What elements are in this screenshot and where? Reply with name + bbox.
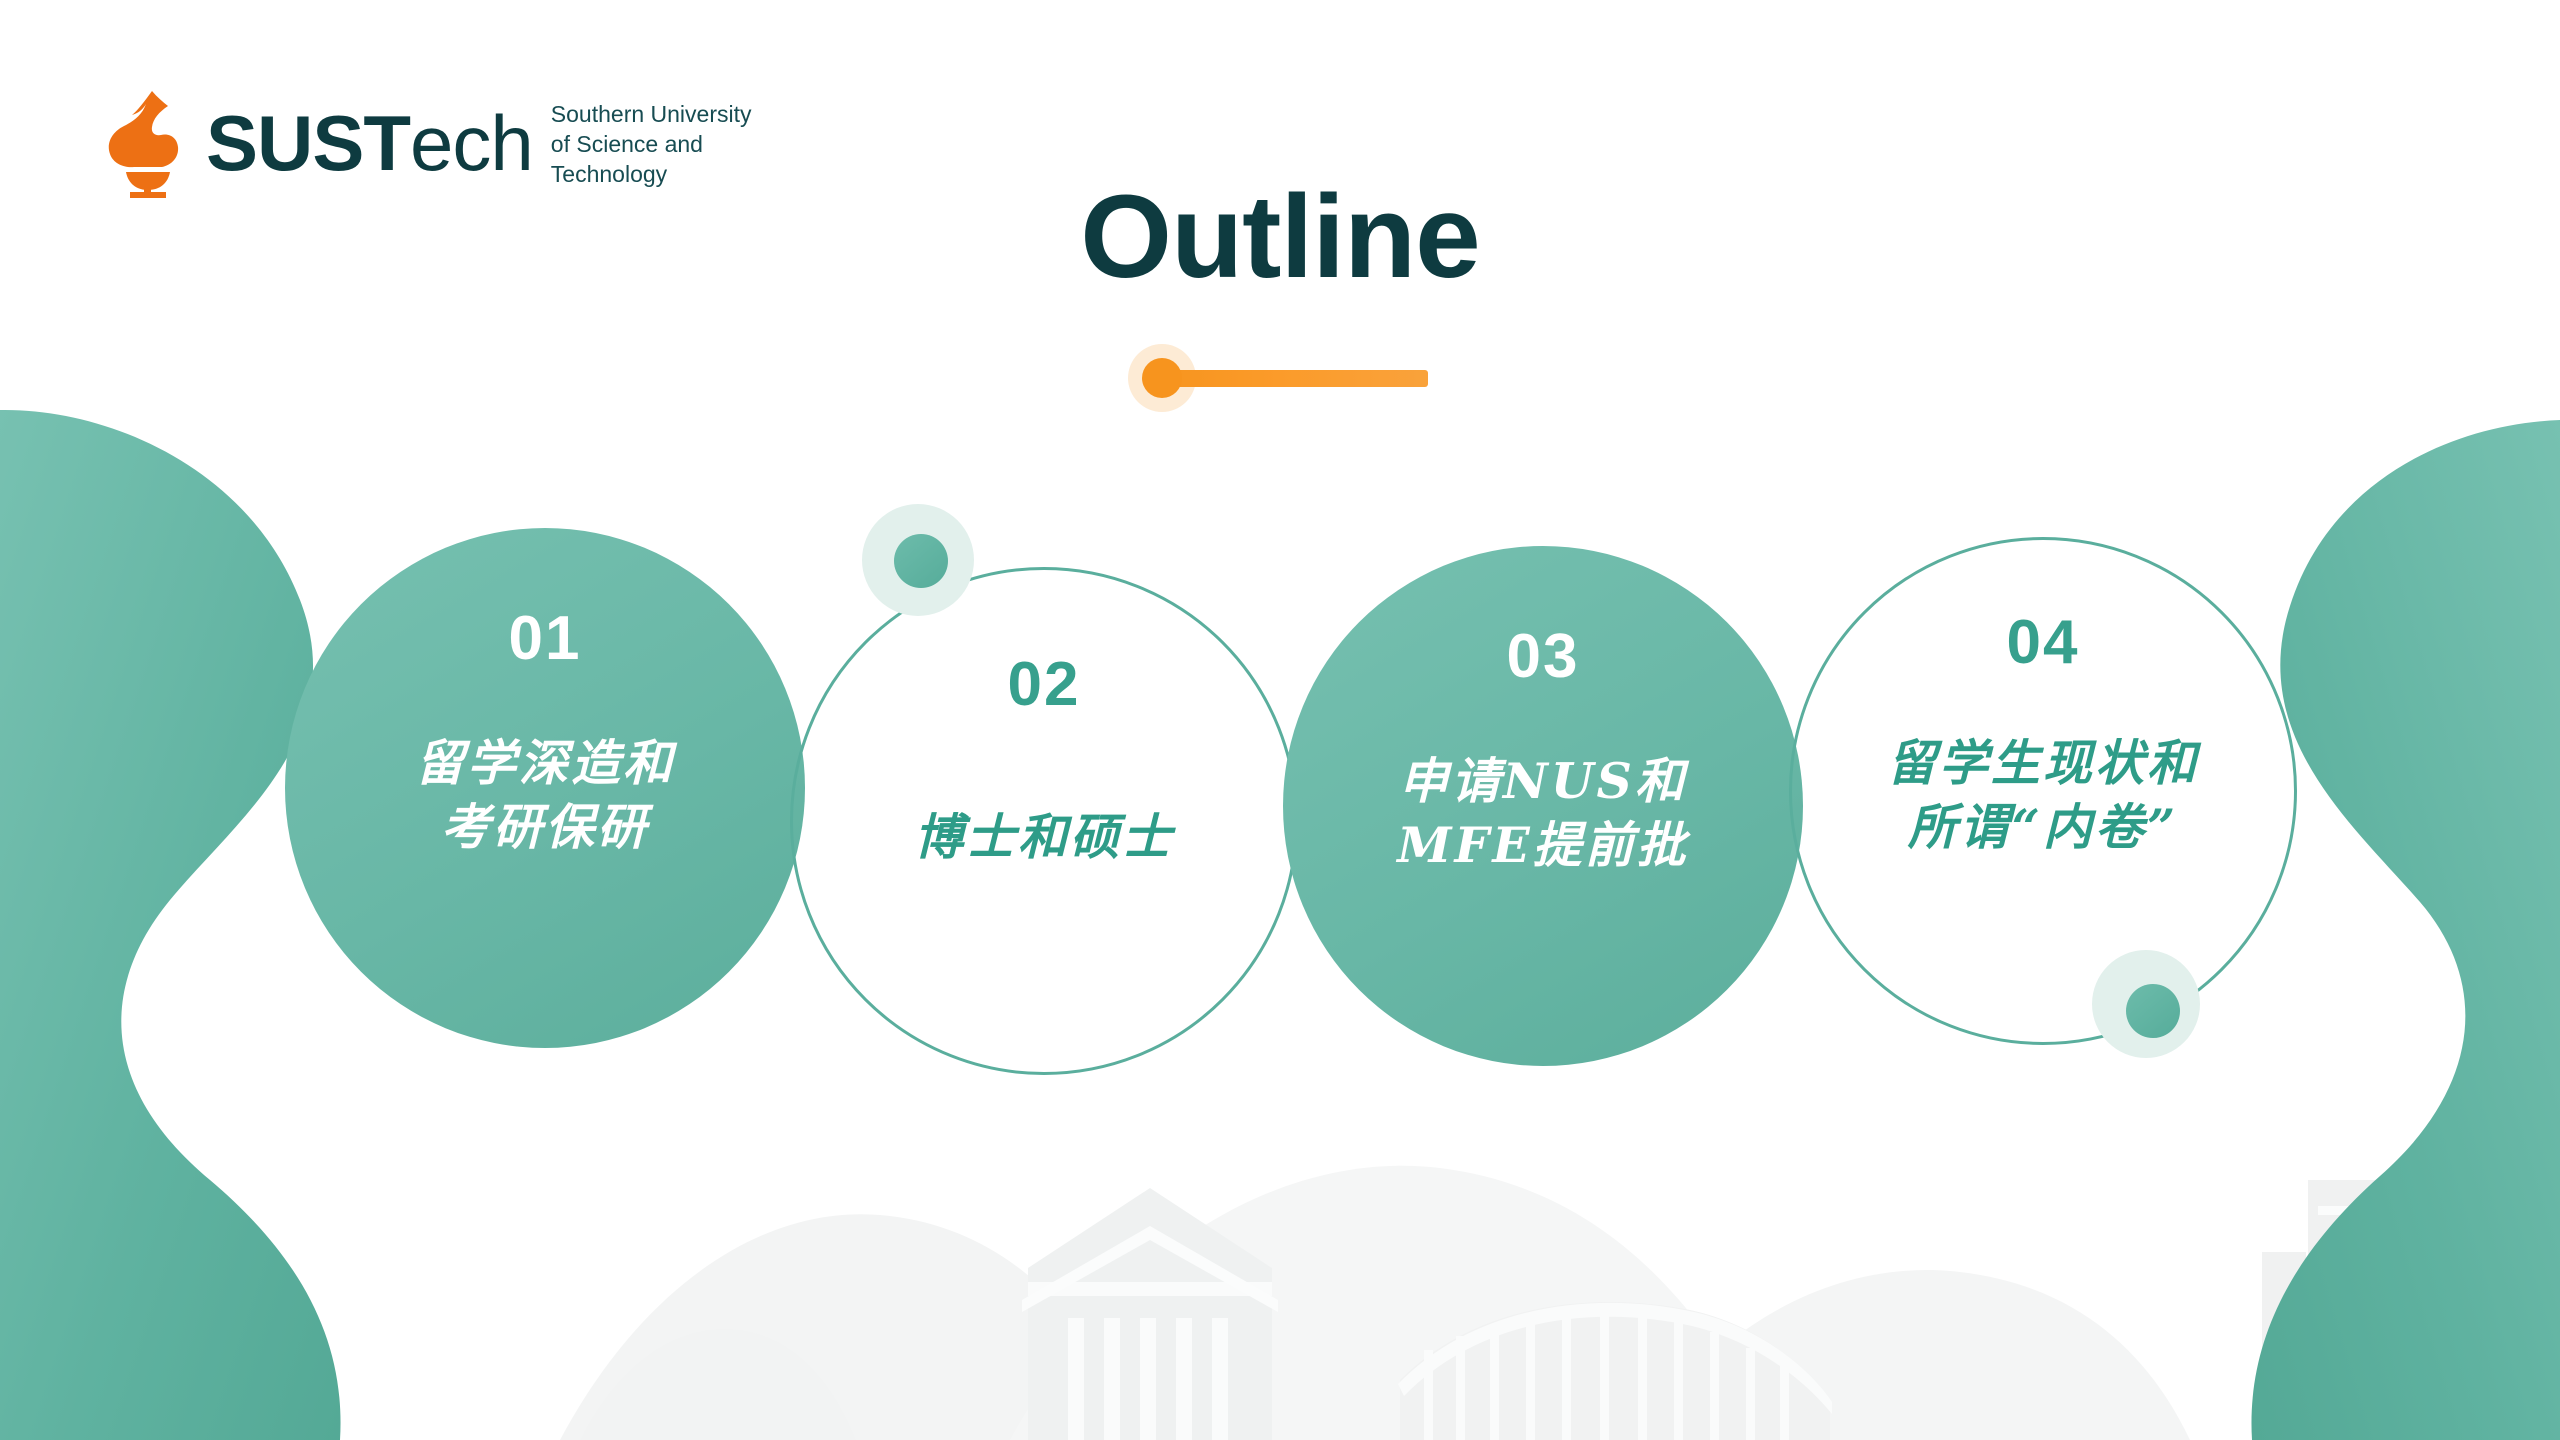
outline-number-01: 01 — [509, 608, 582, 670]
page-title-text: Outline — [0, 178, 2560, 296]
outline-label-02: 博士和硕士 — [914, 806, 1174, 870]
outline-number-04: 04 — [2007, 612, 2080, 674]
title-accent-rule — [1128, 344, 1428, 412]
outline-item-02[interactable]: 02 博士和硕士 — [790, 567, 1298, 1075]
campus-watermark — [560, 1166, 2492, 1440]
logo-wordmark-bold: SUST — [206, 99, 410, 187]
logo-wordmark: SUSTech — [206, 104, 533, 182]
outline-item-01[interactable]: 01 留学深造和 考研保研 — [285, 528, 805, 1048]
logo-subtitle-line-1: Southern University — [551, 100, 752, 130]
logo-wordmark-light: ech — [410, 99, 533, 187]
logo-subtitle: Southern University of Science and Techn… — [551, 96, 752, 190]
outline-item-03[interactable]: 03 申请NUS和 MFE提前批 — [1283, 546, 1803, 1066]
accent-bar — [1156, 370, 1428, 387]
outline-label-01: 留学深造和 考研保研 — [415, 732, 675, 859]
outline-item-04[interactable]: 04 留学生现状和 所谓“内卷” — [1789, 537, 2297, 1045]
bridge-silhouette — [1398, 1302, 1832, 1440]
left-wave-blob — [0, 410, 341, 1440]
ring-dot-icon — [894, 534, 948, 588]
right-wave-blob — [2251, 420, 2560, 1440]
slide-canvas: SUSTech Southern University of Science a… — [0, 0, 2560, 1440]
outline-label-04: 留学生现状和 所谓“内卷” — [1887, 732, 2199, 859]
outline-number-03: 03 — [1507, 626, 1580, 688]
accent-dot-icon — [1142, 358, 1182, 398]
right-building-silhouette — [2262, 1180, 2492, 1440]
page-title: Outline — [0, 178, 2560, 296]
outline-label-03: 申请NUS和 MFE提前批 — [1397, 750, 1688, 877]
outline-number-02: 02 — [1008, 654, 1081, 716]
logo-subtitle-line-2: of Science and — [551, 130, 752, 160]
